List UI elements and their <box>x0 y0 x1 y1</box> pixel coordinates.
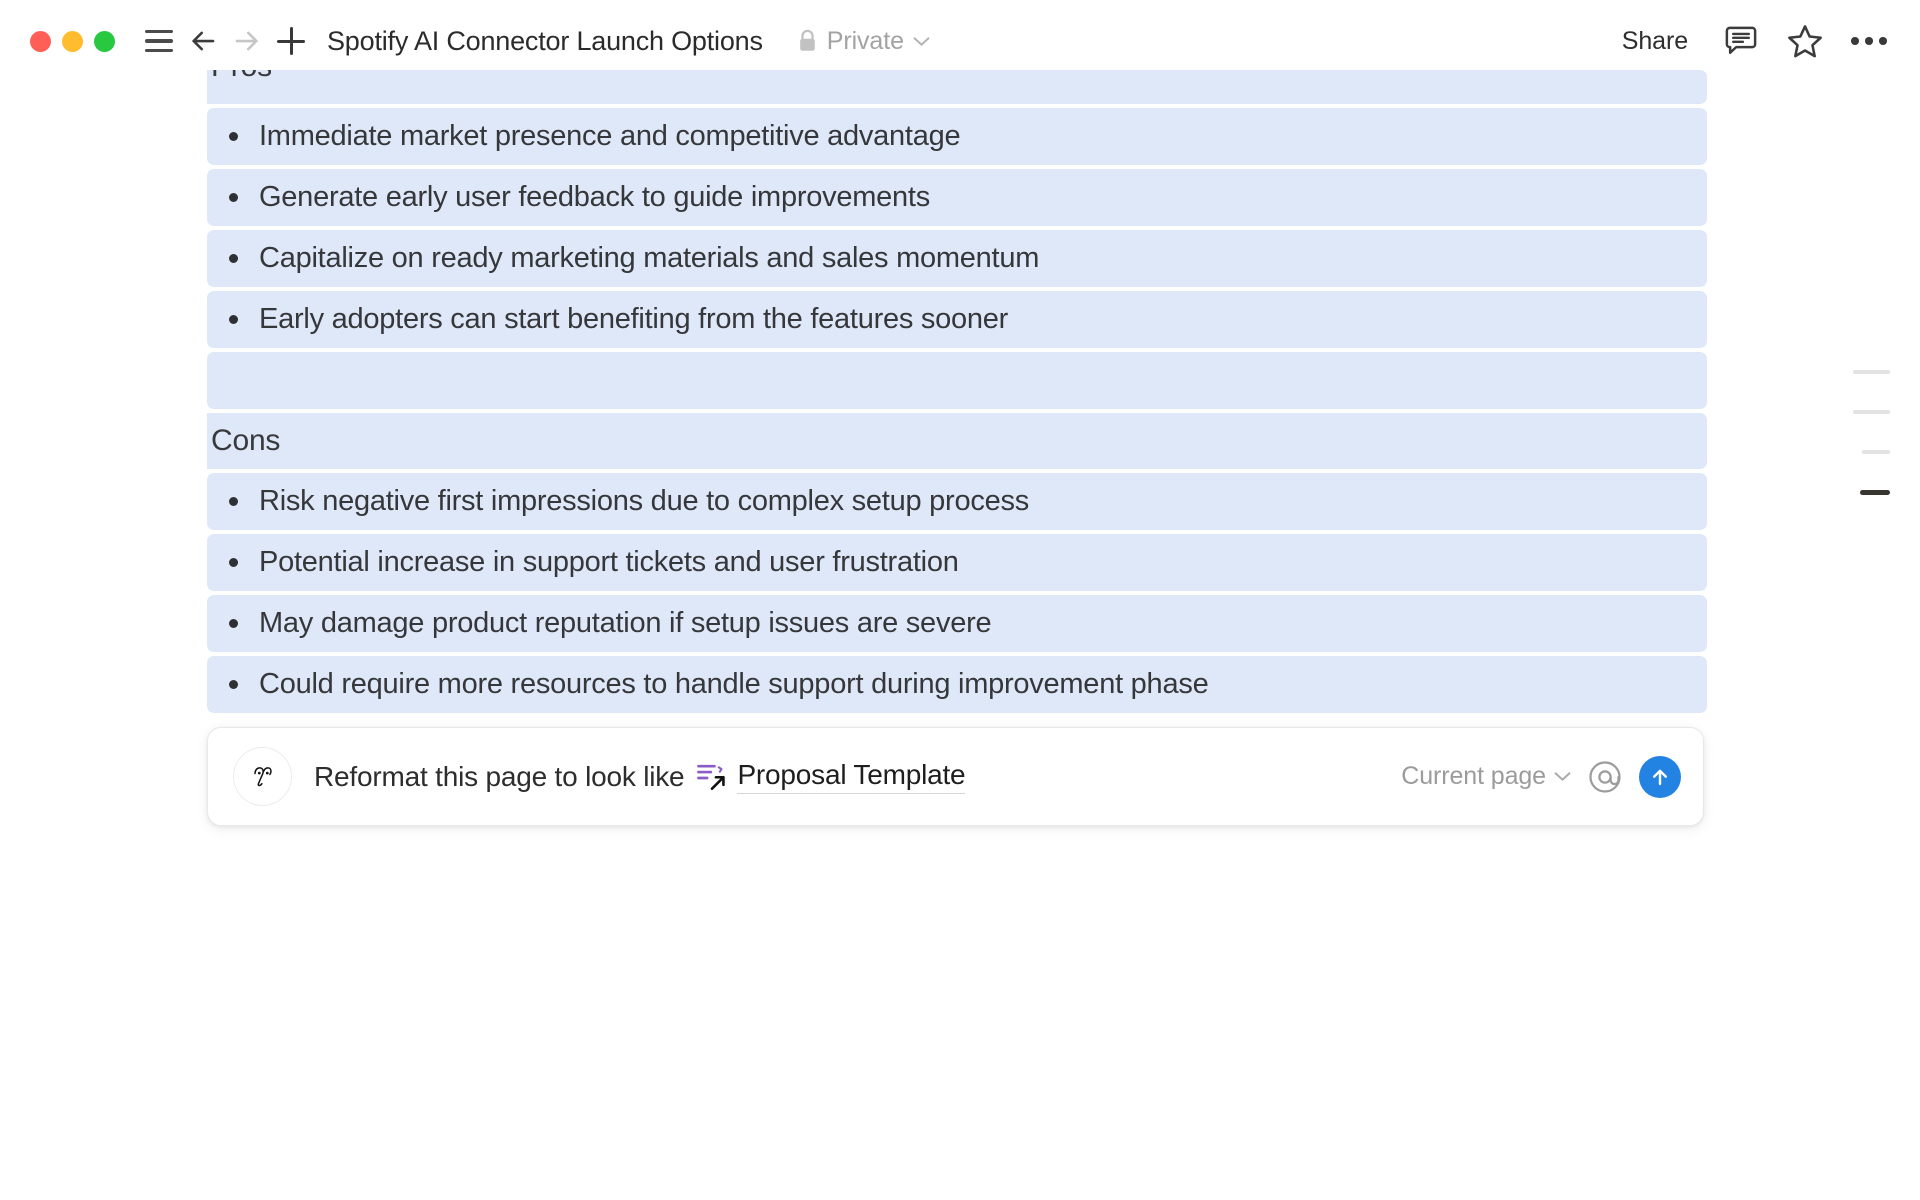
titlebar-actions: Share <box>1610 18 1892 64</box>
list-item[interactable]: Could require more resources to handle s… <box>207 656 1707 713</box>
list-item-label: Risk negative first impressions due to c… <box>259 485 1029 518</box>
list-item-label: Capitalize on ready marketing materials … <box>259 242 1039 275</box>
sidebar-toggle-button[interactable] <box>137 19 181 63</box>
app-window: Spotify AI Connector Launch Options Priv… <box>0 0 1920 1200</box>
forward-button[interactable] <box>225 19 269 63</box>
ai-bar-controls: Current page <box>1401 756 1681 798</box>
bullet-icon <box>229 680 238 689</box>
list-item-label: Potential increase in support tickets an… <box>259 546 959 579</box>
document-body: Pros Immediate market presence and compe… <box>0 70 1920 1188</box>
bullet-icon <box>229 193 238 202</box>
table-of-contents-minimap[interactable] <box>1853 370 1890 495</box>
list-item[interactable]: Early adopters can start benefiting from… <box>207 291 1707 348</box>
bullet-icon <box>229 497 238 506</box>
list-item[interactable]: Capitalize on ready marketing materials … <box>207 230 1707 287</box>
ai-avatar <box>233 747 292 806</box>
content-blocks: Pros Immediate market presence and compe… <box>207 70 1707 826</box>
bullet-icon <box>229 315 238 324</box>
arrow-left-icon <box>188 26 218 56</box>
heading-cons[interactable]: Cons <box>207 413 1707 469</box>
template-arrow-icon <box>696 762 728 792</box>
favorite-button[interactable] <box>1782 18 1828 64</box>
toc-line-1[interactable] <box>1853 370 1890 374</box>
bullet-icon <box>229 254 238 263</box>
privacy-dropdown[interactable]: Private <box>791 23 936 60</box>
ai-prompt-text: Reformat this page to look like <box>314 761 684 793</box>
list-item-label: Could require more resources to handle s… <box>259 668 1208 701</box>
page-title[interactable]: Spotify AI Connector Launch Options <box>327 26 763 57</box>
list-item[interactable]: May damage product reputation if setup i… <box>207 595 1707 652</box>
bullet-icon <box>229 132 238 141</box>
close-window-button[interactable] <box>30 31 51 52</box>
list-item[interactable]: Immediate market presence and competitiv… <box>207 108 1707 165</box>
list-item-label: May damage product reputation if setup i… <box>259 607 991 640</box>
list-item-label: Generate early user feedback to guide im… <box>259 181 930 214</box>
heading-pros[interactable]: Pros <box>207 70 1707 104</box>
minimize-window-button[interactable] <box>62 31 83 52</box>
empty-block[interactable] <box>207 352 1707 409</box>
at-icon[interactable] <box>1588 760 1622 794</box>
scope-dropdown[interactable]: Current page <box>1401 762 1571 791</box>
lock-icon <box>797 29 818 53</box>
window-controls <box>30 31 115 52</box>
plus-icon <box>277 27 305 55</box>
heading-cons-label: Cons <box>211 424 280 458</box>
more-options-button[interactable] <box>1846 18 1892 64</box>
star-icon <box>1787 24 1823 58</box>
chevron-down-icon <box>913 36 930 47</box>
bullet-icon <box>229 558 238 567</box>
list-item-label: Immediate market presence and competitiv… <box>259 120 960 153</box>
privacy-label: Private <box>827 27 904 56</box>
toc-line-4-active[interactable] <box>1860 490 1890 495</box>
heading-pros-label: Pros <box>211 70 272 84</box>
arrow-right-icon <box>232 26 262 56</box>
maximize-window-button[interactable] <box>94 31 115 52</box>
chevron-down-icon <box>1554 771 1571 782</box>
list-item-label: Early adopters can start benefiting from… <box>259 303 1008 336</box>
comment-icon <box>1724 25 1758 57</box>
comments-button[interactable] <box>1718 18 1764 64</box>
list-item[interactable]: Risk negative first impressions due to c… <box>207 473 1707 530</box>
share-button[interactable]: Share <box>1610 21 1700 62</box>
more-horizontal-icon <box>1851 37 1887 45</box>
ai-prompt-bar[interactable]: Reformat this page to look like Proposal… <box>207 727 1704 826</box>
toc-line-3[interactable] <box>1862 450 1890 454</box>
list-item[interactable]: Potential increase in support tickets an… <box>207 534 1707 591</box>
back-button[interactable] <box>181 19 225 63</box>
ai-prompt-input[interactable]: Reformat this page to look like Proposal… <box>314 759 1401 794</box>
bullet-icon <box>229 619 238 628</box>
toc-line-2[interactable] <box>1853 410 1890 414</box>
arrow-up-icon <box>1648 765 1672 789</box>
scope-label: Current page <box>1401 762 1546 791</box>
notion-ai-face-icon <box>246 760 280 794</box>
template-page-link[interactable]: Proposal Template <box>737 759 965 794</box>
list-item[interactable]: Generate early user feedback to guide im… <box>207 169 1707 226</box>
new-page-button[interactable] <box>269 19 313 63</box>
send-button[interactable] <box>1639 756 1681 798</box>
hamburger-icon <box>145 30 173 52</box>
